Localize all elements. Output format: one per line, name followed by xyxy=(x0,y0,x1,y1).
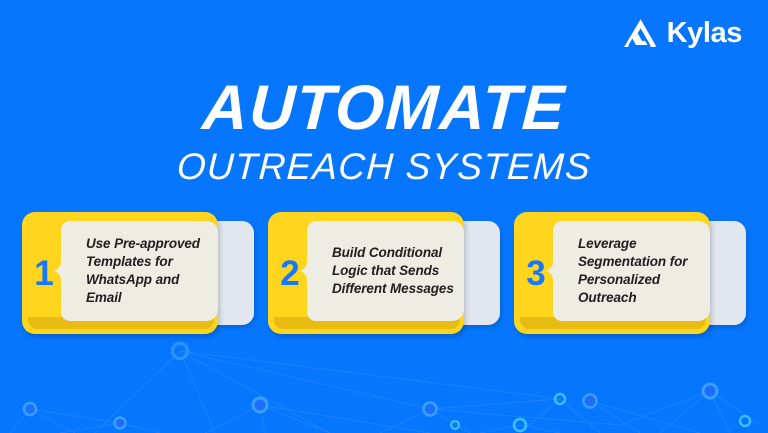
tip-card: 3 Leverage Segmentation for Personalized… xyxy=(514,212,746,334)
poster-canvas: Kylas AUTOMATE OUTREACH SYSTEMS 1 Use Pr… xyxy=(0,0,768,433)
headline-block: AUTOMATE OUTREACH SYSTEMS xyxy=(0,76,768,191)
card-number: 1 xyxy=(31,212,57,334)
tip-card: 2 Build Conditional Logic that Sends Dif… xyxy=(268,212,500,334)
card-text: Build Conditional Logic that Sends Diffe… xyxy=(332,221,458,321)
brand-name-text: Kylas xyxy=(667,19,742,48)
tip-card: 1 Use Pre-approved Templates for WhatsAp… xyxy=(22,212,254,334)
kylas-mountain-logo-icon xyxy=(624,18,658,48)
page-subtitle: OUTREACH SYSTEMS xyxy=(0,144,768,190)
page-title: AUTOMATE xyxy=(0,76,768,140)
card-text: Leverage Segmentation for Personalized O… xyxy=(578,221,704,321)
card-text: Use Pre-approved Templates for WhatsApp … xyxy=(86,221,212,321)
card-number: 3 xyxy=(523,212,549,334)
card-number: 2 xyxy=(277,212,303,334)
brand-logo: Kylas xyxy=(624,18,742,48)
tips-card-row: 1 Use Pre-approved Templates for WhatsAp… xyxy=(22,212,746,334)
